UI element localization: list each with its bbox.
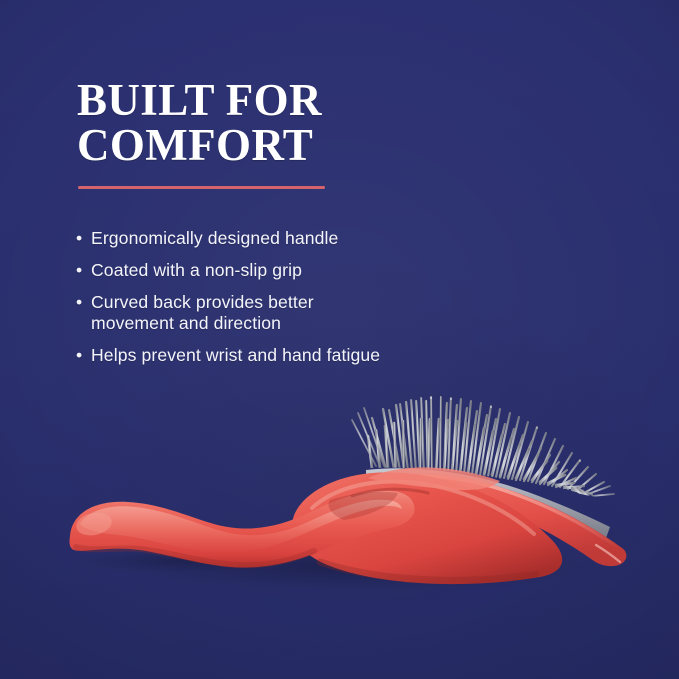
list-item-line-1: Ergonomically designed handle [91,228,338,248]
list-item: • Coated with a non-slip grip [76,260,496,281]
bullet-marker-icon: • [76,345,82,366]
headline-line-2: Comfort [77,123,497,168]
list-item: • Ergonomically designed handle [76,228,496,249]
headline-line-1: Built for [77,78,497,123]
list-item-text: Coated with a non-slip grip [91,260,496,281]
bullet-marker-icon: • [76,260,82,281]
list-item-text: Helps prevent wrist and hand fatigue [91,345,496,366]
title-divider [78,186,325,189]
bullet-marker-icon: • [76,292,82,313]
list-item: • Curved back provides better movement a… [76,292,496,334]
list-item-line-1: Coated with a non-slip grip [91,260,302,280]
page-title: Built for Comfort [77,78,497,168]
list-item: • Helps prevent wrist and hand fatigue [76,345,496,366]
list-item-line-1: Helps prevent wrist and hand fatigue [91,345,380,365]
feature-list: • Ergonomically designed handle • Coated… [76,228,496,366]
list-item-line-1: Curved back provides better [91,292,314,312]
list-item-text: Ergonomically designed handle [91,228,496,249]
list-item-text: Curved back provides better movement and… [91,292,496,334]
product-feature-card: Built for Comfort • Ergonomically design… [0,0,679,679]
list-item-line-2: movement and direction [91,313,496,334]
bullet-marker-icon: • [76,228,82,249]
